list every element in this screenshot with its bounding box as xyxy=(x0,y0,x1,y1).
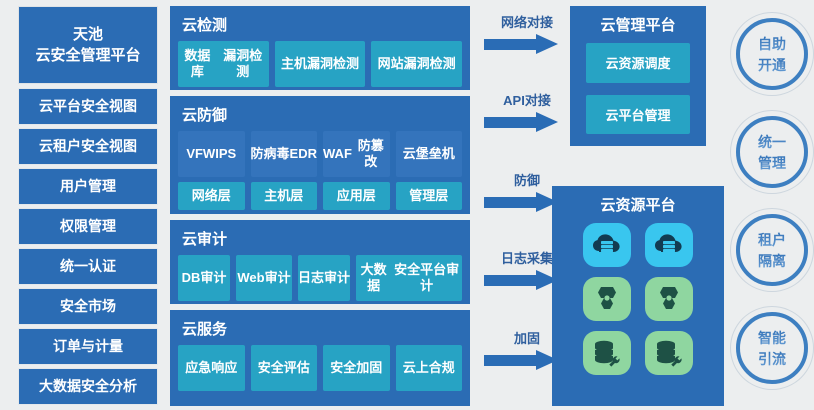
sidebar-item-permission[interactable]: 权限管理 xyxy=(18,208,158,245)
circle-self-service-line1: 自助 xyxy=(758,34,786,54)
sidebar-item-order-metering[interactable]: 订单与计量 xyxy=(18,328,158,365)
cell-vfw-ips[interactable]: VFWIPS xyxy=(178,131,245,177)
panel-cloud-audit: 云审计 DB审计 Web审计 日志审计 大数据安全平台审计 xyxy=(170,220,470,304)
arrow-glyph-right xyxy=(484,34,570,54)
cell-cloud-bastion[interactable]: 云堡垒机 xyxy=(396,131,463,177)
cell-db-vuln-detection[interactable]: 数据库漏洞检测 xyxy=(178,41,269,87)
circle-unified-management-line1: 统一 xyxy=(758,132,786,152)
sidebar-item-bigdata-analysis[interactable]: 大数据安全分析 xyxy=(18,368,158,405)
circle-unified-management[interactable]: 统一 管理 xyxy=(736,116,808,188)
panel-cloud-detection-title: 云检测 xyxy=(182,14,462,35)
panel-cloud-defense: 云防御 VFWIPS 防病毒EDR WAF防篡改 云堡垒机 网络层 主机层 应用… xyxy=(170,96,470,214)
panel-cloud-service-title: 云服务 xyxy=(182,318,462,339)
circle-self-service-line2: 开通 xyxy=(758,55,786,75)
sidebar-item-cloud-platform-view[interactable]: 云平台安全视图 xyxy=(18,88,158,125)
panel-cloud-service: 云服务 应急响应 安全评估 安全加固 云上合规 xyxy=(170,310,470,406)
cell-log-audit[interactable]: 日志审计 xyxy=(298,255,350,301)
database-wrench-icon[interactable] xyxy=(645,331,693,375)
circle-intelligent-traffic-line2: 引流 xyxy=(758,349,786,369)
cloud-server-icon[interactable] xyxy=(645,223,693,267)
cell-antivirus-edr[interactable]: 防病毒EDR xyxy=(251,131,318,177)
sidebar-item-security-market[interactable]: 安全市场 xyxy=(18,288,158,325)
cell-host-layer[interactable]: 主机层 xyxy=(251,182,318,210)
resource-icon-grid xyxy=(583,223,693,375)
hexagon-cluster-icon[interactable] xyxy=(583,277,631,321)
cell-db-audit[interactable]: DB审计 xyxy=(178,255,230,301)
cloud-server-icon[interactable] xyxy=(583,223,631,267)
arrow-network-docking: 网络对接 xyxy=(484,12,570,54)
circle-tenant-isolation-line2: 隔离 xyxy=(758,251,786,271)
sidebar-item-user-management[interactable]: 用户管理 xyxy=(18,168,158,205)
cell-security-hardening[interactable]: 安全加固 xyxy=(323,345,390,391)
arrow-api-docking: API对接 xyxy=(484,90,570,132)
hexagon-cluster-icon[interactable] xyxy=(645,277,693,321)
sidebar-item-unified-auth[interactable]: 统一认证 xyxy=(18,248,158,285)
cell-cloud-resource-scheduling[interactable]: 云资源调度 xyxy=(586,43,690,83)
panel-cloud-management: 云管理平台 云资源调度 云平台管理 xyxy=(570,6,706,146)
panel-cloud-resource: 云资源平台 xyxy=(552,186,724,406)
sidebar-header: 天池 云安全管理平台 xyxy=(18,6,158,84)
diagram-canvas: 天池 云安全管理平台 云平台安全视图 云租户安全视图 用户管理 权限管理 统一认… xyxy=(0,0,814,410)
cell-bigdata-platform-audit[interactable]: 大数据安全平台审计 xyxy=(356,255,462,301)
circle-unified-management-line2: 管理 xyxy=(758,153,786,173)
cell-emergency-response[interactable]: 应急响应 xyxy=(178,345,245,391)
cell-cloud-platform-management[interactable]: 云平台管理 xyxy=(586,95,690,135)
sidebar-item-tenant-view[interactable]: 云租户安全视图 xyxy=(18,128,158,165)
panel-cloud-resource-title: 云资源平台 xyxy=(600,194,675,215)
arrow-label-network-docking: 网络对接 xyxy=(484,12,570,31)
panel-cloud-audit-title: 云审计 xyxy=(182,228,462,249)
database-wrench-icon[interactable] xyxy=(583,331,631,375)
cell-management-layer[interactable]: 管理层 xyxy=(396,182,463,210)
sidebar-header-line1: 天池 xyxy=(73,26,103,43)
panel-cloud-management-title: 云管理平台 xyxy=(600,14,675,35)
cell-web-audit[interactable]: Web审计 xyxy=(236,255,292,301)
arrow-glyph-right xyxy=(484,112,570,132)
circle-self-service[interactable]: 自助 开通 xyxy=(736,18,808,90)
cell-network-layer[interactable]: 网络层 xyxy=(178,182,245,210)
cell-security-assessment[interactable]: 安全评估 xyxy=(251,345,318,391)
circle-tenant-isolation[interactable]: 租户 隔离 xyxy=(736,214,808,286)
circle-intelligent-traffic-line1: 智能 xyxy=(758,328,786,348)
cell-waf-antitamper[interactable]: WAF防篡改 xyxy=(323,131,390,177)
cell-application-layer[interactable]: 应用层 xyxy=(323,182,390,210)
cell-cloud-compliance[interactable]: 云上合规 xyxy=(396,345,463,391)
panel-cloud-defense-title: 云防御 xyxy=(182,104,462,125)
circle-intelligent-traffic[interactable]: 智能 引流 xyxy=(736,312,808,384)
cell-web-vuln-detection[interactable]: 网站漏洞检测 xyxy=(371,41,462,87)
cell-host-vuln-detection[interactable]: 主机漏洞检测 xyxy=(275,41,366,87)
panel-cloud-detection: 云检测 数据库漏洞检测 主机漏洞检测 网站漏洞检测 xyxy=(170,6,470,90)
sidebar-header-line2: 云安全管理平台 xyxy=(35,47,140,64)
circle-tenant-isolation-line1: 租户 xyxy=(758,230,786,250)
arrow-label-api-docking: API对接 xyxy=(484,90,570,109)
